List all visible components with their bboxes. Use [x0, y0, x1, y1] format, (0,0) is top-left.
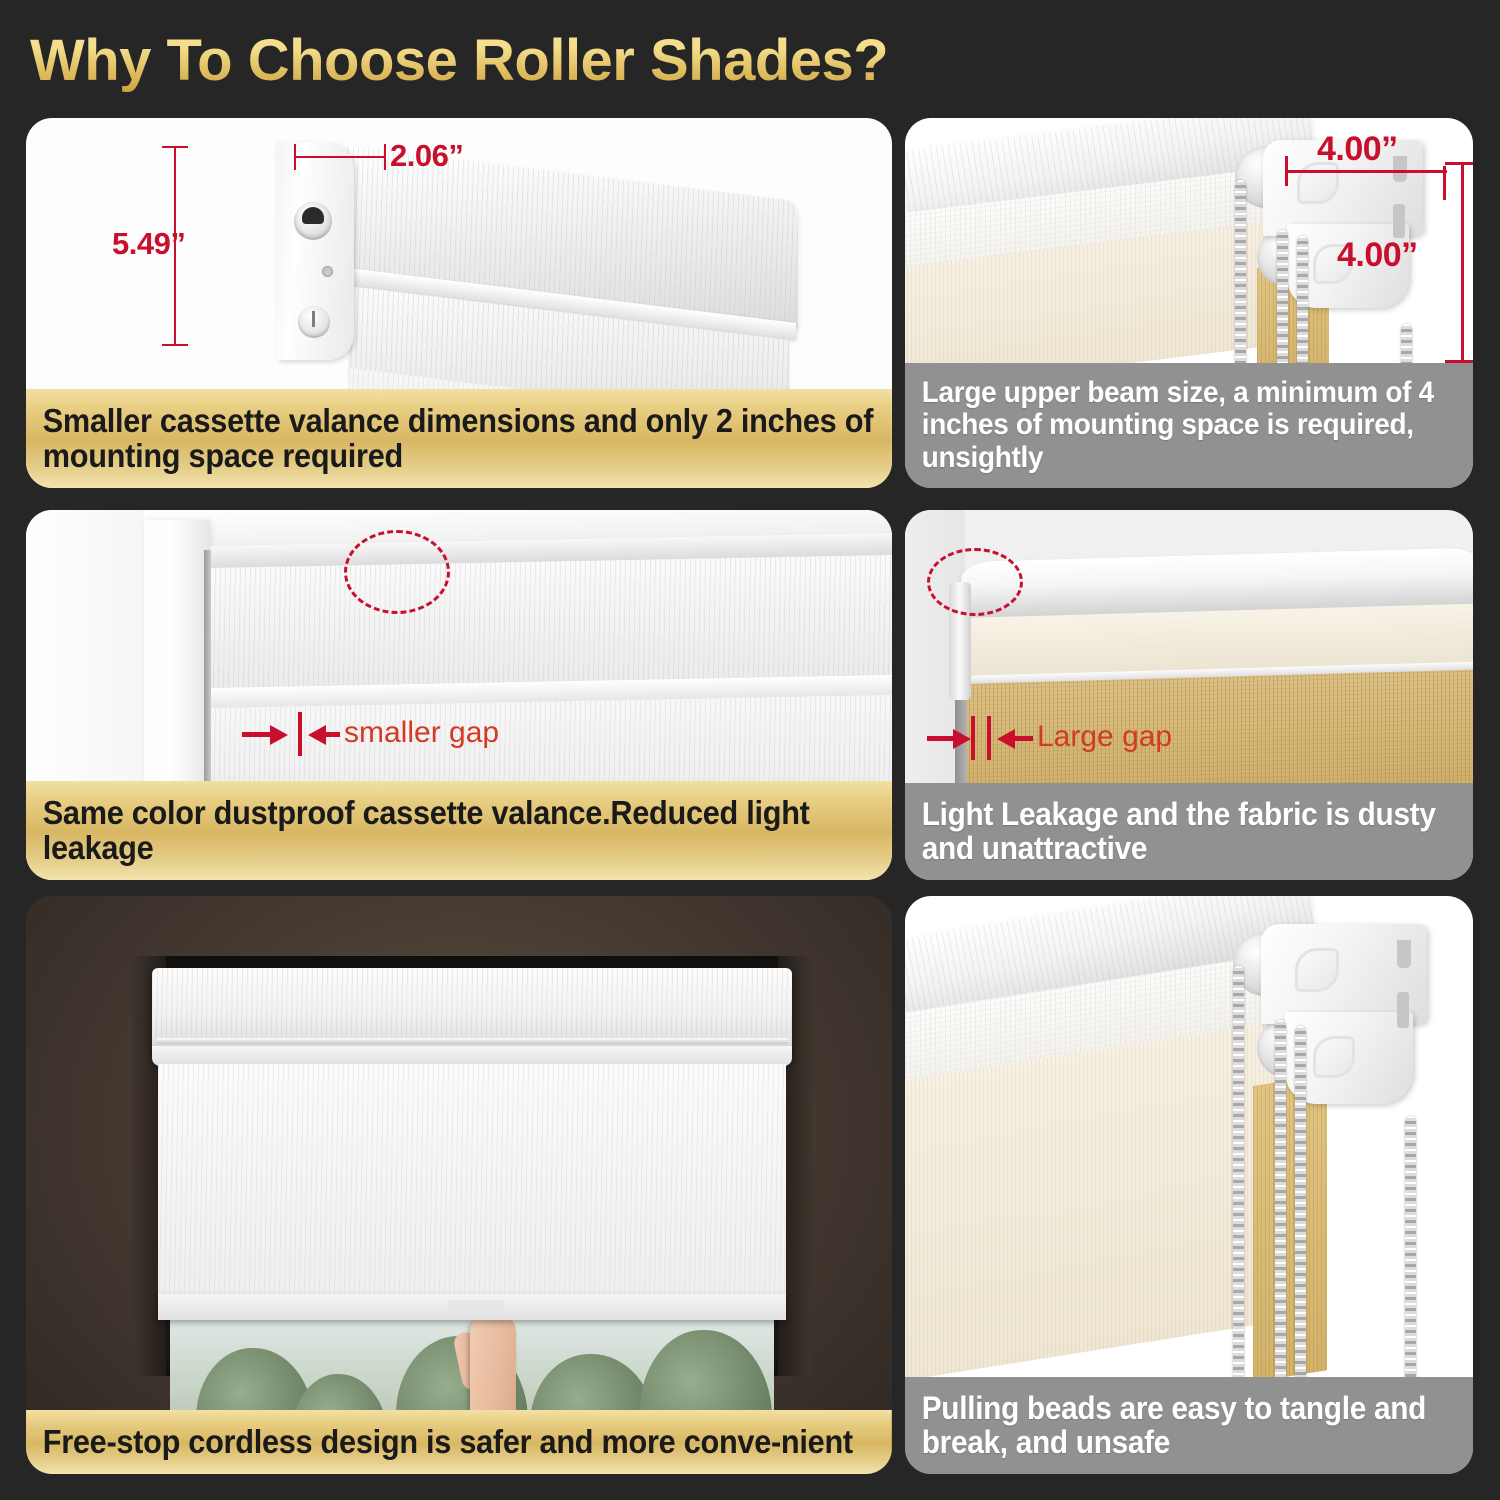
- bracket-slot-mid: [1397, 992, 1409, 1028]
- panel-con-large-gap: Large gap Light Leakage and the fabric i…: [905, 510, 1473, 880]
- bead-chain-4[interactable]: [1405, 1116, 1416, 1386]
- panel-con-beam-size: 4.00” 4.00” Large upper beam size, a min…: [905, 118, 1473, 488]
- depth-dimension-line: [294, 156, 386, 158]
- panel-pro-smaller-gap: smaller gap Same color dustproof cassett…: [26, 510, 892, 880]
- caption-pro-cordless: Free-stop cordless design is safer and m…: [26, 1410, 892, 1474]
- gap-marker-bar-right: [987, 716, 991, 760]
- panel-pro-cassette-size: 5.49” 2.06” Smaller cassette valance dim…: [26, 118, 892, 488]
- beam-height-dimension-line: [1461, 162, 1464, 362]
- caption-con-large-gap: Light Leakage and the fabric is dusty an…: [905, 783, 1473, 880]
- gap-arrow-tail-right: [1015, 736, 1033, 741]
- bracket-embossed-arrow-top: [1295, 948, 1339, 992]
- tan-fabric-backing: [1253, 1074, 1327, 1382]
- beam-width-tick-left: [1285, 156, 1288, 186]
- shade-fabric: [158, 1064, 786, 1302]
- bracket-slot-mid: [1393, 204, 1405, 238]
- beam-width-dimension-line: [1287, 170, 1447, 173]
- panel-pro-cordless: Free-stop cordless design is safer and m…: [26, 896, 892, 1474]
- gap-marker-bar-left: [971, 716, 975, 760]
- shade-fabric-upper: [210, 555, 892, 690]
- valance-seam: [156, 1038, 790, 1044]
- endcap-lower-knob: [298, 306, 330, 338]
- caption-pro-smaller-gap: Same color dustproof cassette valance.Re…: [26, 781, 892, 880]
- bead-chain-3[interactable]: [1295, 1026, 1306, 1386]
- gap-arrow-right-icon: [270, 725, 288, 745]
- gap-arrow-tail-right: [326, 732, 340, 737]
- endcap-roller-knob: [294, 202, 332, 240]
- height-dimension-label: 5.49”: [112, 226, 185, 262]
- gap-arrow-left-icon: [308, 725, 326, 745]
- cream-fabric: [905, 1021, 1283, 1382]
- highlight-circle-icon: [927, 548, 1023, 616]
- bracket-slot-top: [1397, 940, 1411, 968]
- depth-tick-left: [294, 144, 296, 170]
- caption-con-bead-chain: Pulling beads are easy to tangle and bre…: [905, 1377, 1473, 1474]
- bead-chain-2[interactable]: [1275, 1020, 1286, 1386]
- depth-tick-right: [384, 144, 386, 170]
- endcap-screw: [322, 266, 333, 277]
- caption-con-beam-size: Large upper beam size, a minimum of 4 in…: [905, 363, 1473, 488]
- beam-width-label: 4.00”: [1317, 130, 1398, 169]
- shade-pull-tab[interactable]: [448, 1300, 504, 1312]
- large-gap-label: Large gap: [1037, 720, 1172, 754]
- product-photo-room-window: [26, 896, 892, 1474]
- bead-chain-1[interactable]: [1233, 966, 1244, 1386]
- gap-marker-bar: [298, 712, 302, 756]
- highlight-circle-icon: [344, 530, 450, 614]
- valance-lip: [152, 1046, 792, 1066]
- beam-height-tick-top: [1445, 162, 1473, 165]
- gap-arrow-right-icon: [953, 729, 971, 749]
- gap-arrow-left-icon: [997, 729, 1015, 749]
- page-title: Why To Choose Roller Shades?: [30, 22, 1130, 100]
- height-tick-top: [162, 146, 188, 148]
- panel-con-bead-chain: Pulling beads are easy to tangle and bre…: [905, 896, 1473, 1474]
- gap-arrow-tail-left: [927, 736, 955, 741]
- height-tick-bottom: [162, 344, 188, 346]
- gap-arrow-tail-left: [242, 732, 272, 737]
- smaller-gap-label: smaller gap: [344, 716, 499, 750]
- beam-width-tick-right: [1443, 166, 1446, 200]
- caption-pro-cassette-size: Smaller cassette valance dimensions and …: [26, 389, 892, 488]
- depth-dimension-label: 2.06”: [390, 138, 463, 174]
- beam-height-label: 4.00”: [1337, 236, 1418, 275]
- bracket-embossed-arrow-bottom: [1313, 1036, 1355, 1078]
